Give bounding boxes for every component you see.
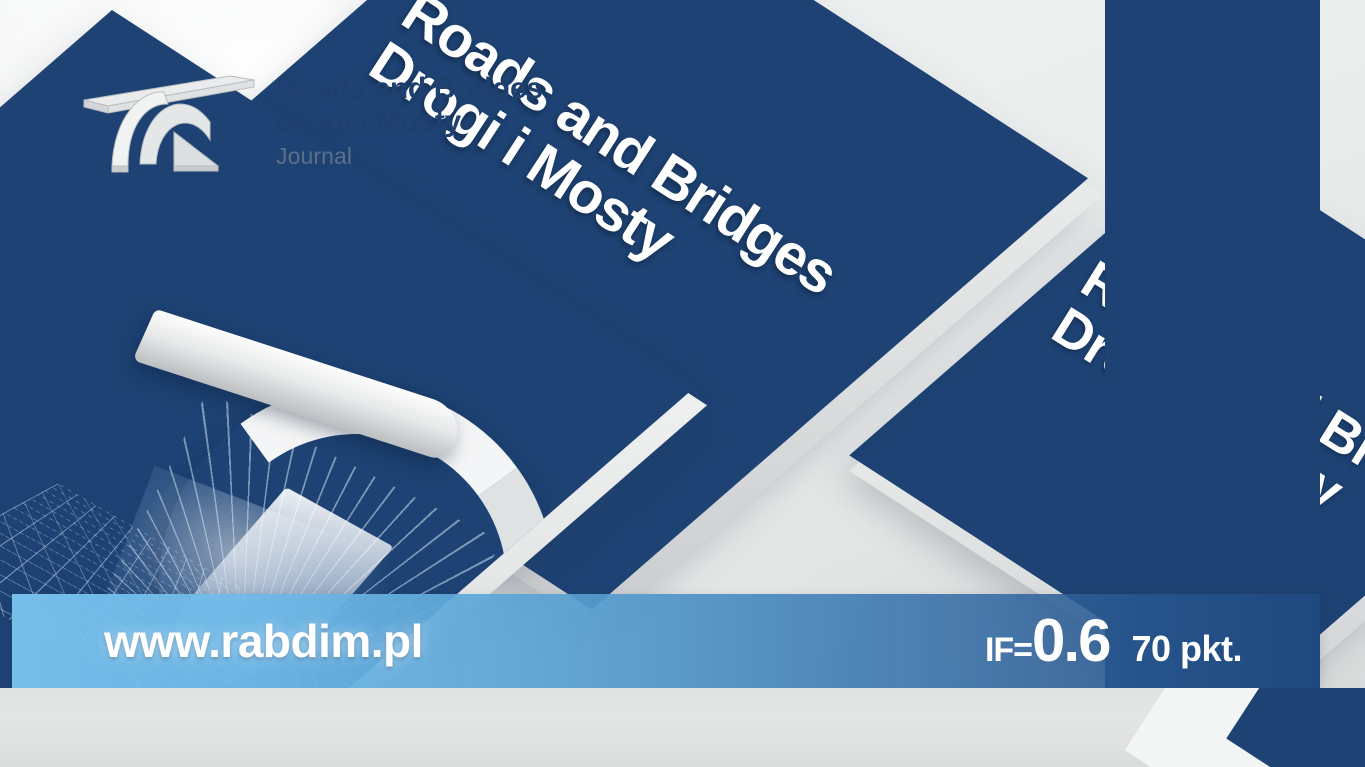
- promo-slide: Roads and Bridges Drogi i Mosty Roads an…: [0, 0, 1365, 767]
- navy-vertical-bar: [1105, 0, 1320, 692]
- journal-logo: Roads and Bridges Drogi i Mosty Journal: [78, 62, 543, 174]
- journal-metrics: IF= 0.6 70 pkt.: [985, 611, 1242, 671]
- journal-subtitle: Journal: [276, 139, 543, 172]
- journal-logo-text: Roads and Bridges Drogi i Mosty Journal: [276, 64, 543, 172]
- ministry-points: 70 pkt.: [1131, 628, 1242, 670]
- website-url[interactable]: www.rabdim.pl: [104, 614, 423, 668]
- bottom-strip: [0, 688, 1365, 767]
- impact-factor-value: 0.6: [1032, 611, 1109, 671]
- journal-title-en: Roads and Bridges: [276, 72, 543, 106]
- impact-factor-label: IF=: [985, 631, 1032, 670]
- website-banner: www.rabdim.pl IF= 0.6 70 pkt.: [12, 594, 1320, 688]
- journal-title-pl: Drogi i Mosty: [276, 105, 543, 139]
- bridge-arch-logo-icon: [78, 62, 258, 174]
